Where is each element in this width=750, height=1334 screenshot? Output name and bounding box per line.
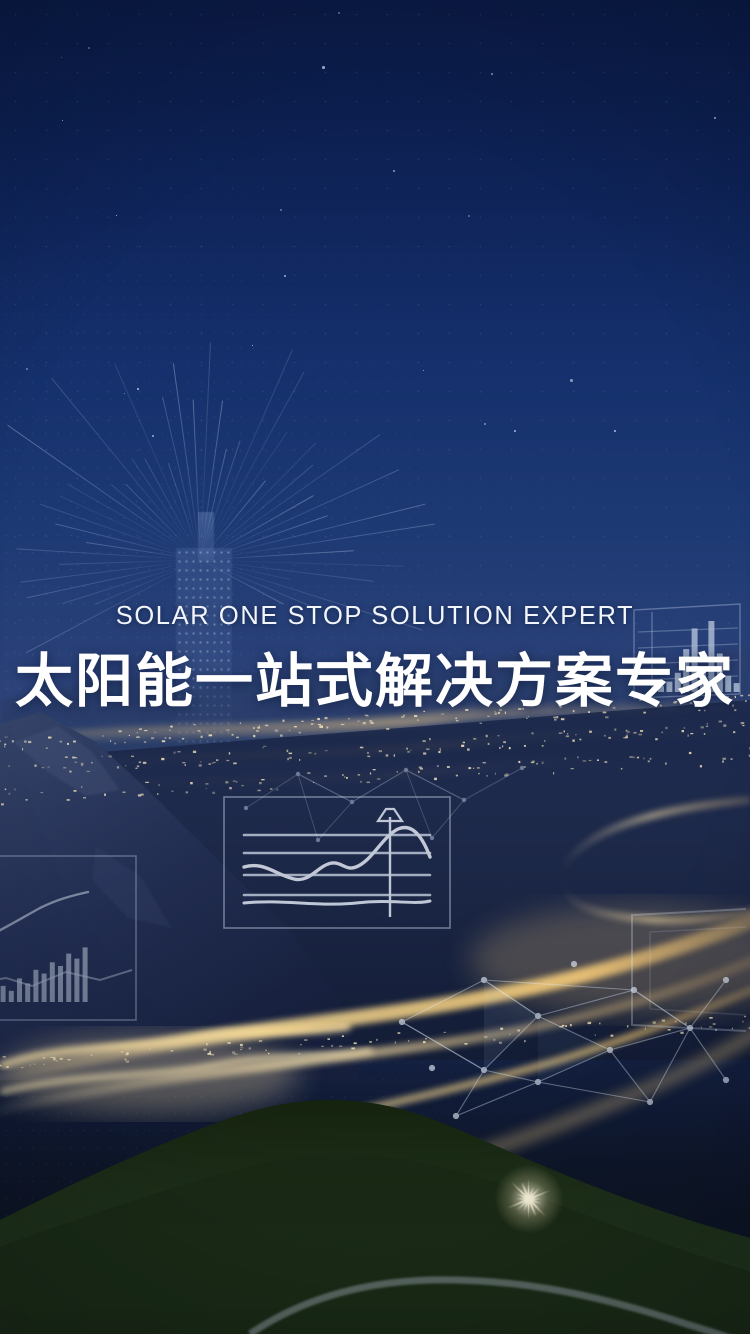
frame-bracket-overlay — [596, 905, 750, 1035]
line-chart-overlay — [222, 795, 452, 930]
hero-banner: SOLAR ONE STOP SOLUTION EXPERT 太阳能一站式解决方… — [0, 0, 750, 1334]
hero-text-block: SOLAR ONE STOP SOLUTION EXPERT 太阳能一站式解决方… — [0, 604, 750, 751]
left-chart-overlay — [0, 852, 140, 1024]
starburst-light — [528, 1198, 529, 1199]
page-title: 太阳能一站式解决方案专家 — [0, 652, 750, 713]
starburst-glow — [494, 1164, 564, 1234]
network-node-overlay — [388, 920, 750, 1135]
hero-eyebrow: SOLAR ONE STOP SOLUTION EXPERT — [0, 604, 750, 630]
